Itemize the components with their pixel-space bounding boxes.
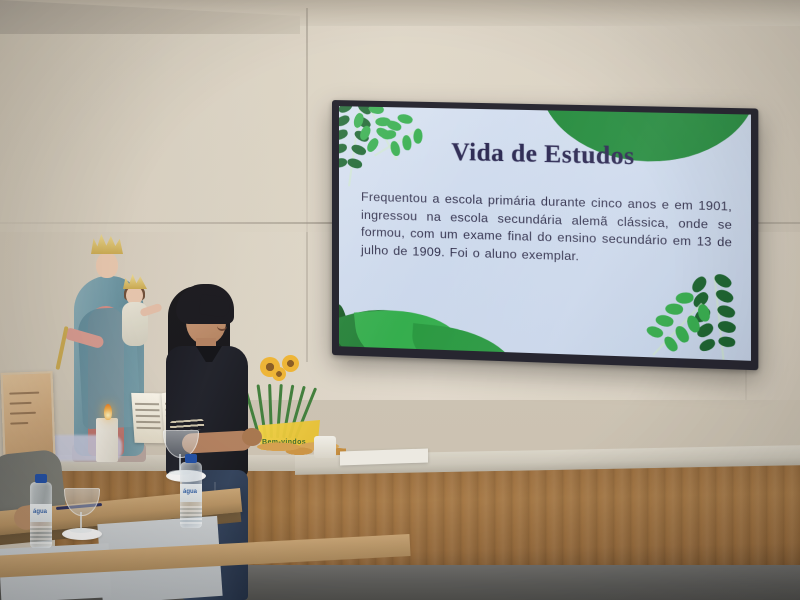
photograph-scene: Vida de Estudos Frequentou a escola prim… bbox=[0, 0, 800, 600]
slide-body-text: Frequentou a escola primária durante cin… bbox=[361, 189, 732, 271]
leaf-icon-3 bbox=[410, 323, 519, 361]
bottle-label-2: água bbox=[30, 504, 52, 522]
wall-mounted-television[interactable]: Vida de Estudos Frequentou a escola prim… bbox=[332, 100, 758, 370]
bottle-cap-1 bbox=[185, 454, 197, 463]
bottle-cap-2 bbox=[35, 474, 47, 483]
decorative-poster bbox=[1, 371, 56, 459]
bottle-label-1: água bbox=[180, 484, 202, 502]
water-bottle-1: água bbox=[180, 462, 202, 528]
wall-panel-line bbox=[306, 232, 308, 362]
candle-flame-icon bbox=[104, 404, 112, 420]
slide-screen: Vida de Estudos Frequentou a escola prim… bbox=[339, 106, 751, 361]
devotional-candle bbox=[96, 418, 118, 462]
wooden-credenza bbox=[290, 460, 800, 580]
statue-child bbox=[116, 272, 156, 358]
wall-seam-vertical bbox=[306, 8, 308, 232]
statue-head bbox=[96, 252, 118, 278]
water-bottle-2: água bbox=[30, 482, 52, 548]
crown-icon bbox=[91, 234, 123, 254]
child-crown-icon bbox=[123, 274, 147, 289]
presenter-hand bbox=[242, 428, 262, 446]
tropical-leaves-icon bbox=[339, 270, 531, 361]
scepter-icon bbox=[55, 326, 68, 370]
cup bbox=[314, 436, 336, 458]
wine-glass-2 bbox=[64, 488, 98, 534]
